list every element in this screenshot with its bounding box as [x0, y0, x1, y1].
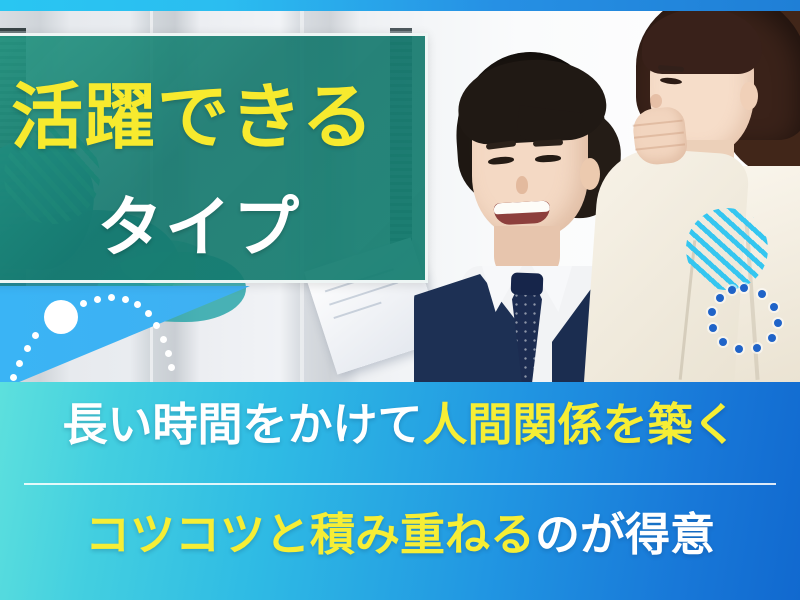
title-main-text: 活躍できる: [11, 82, 375, 154]
tagline-line-2: コツコツと積み重ねるのが得意: [0, 510, 800, 560]
title-sub-text: タイプ: [97, 194, 301, 260]
striped-circle-decoration-right: [686, 208, 768, 290]
white-circle-decoration: [44, 300, 78, 334]
person-woman: [600, 0, 800, 390]
title-box: 活躍できる タイプ: [0, 33, 428, 283]
top-accent-strip: [0, 0, 800, 11]
tagline-line-2-white: のが得意: [535, 509, 715, 560]
bottom-text-panel: 長い時間をかけて人間関係を築く コツコツと積み重ねるのが得意: [0, 382, 800, 600]
recruitment-banner: 活躍できる タイプ 長い時間をかけて人間関係を築く コツコツと積み重ねるのが得意: [0, 0, 800, 600]
tagline-line-1-yellow: 人間関係を築く: [423, 399, 738, 450]
tagline-line-1-white: 長い時間をかけて: [62, 399, 422, 450]
tagline-line-1: 長い時間をかけて人間関係を築く: [0, 400, 800, 450]
tagline-line-2-yellow: コツコツと積み重ねる: [85, 509, 535, 560]
tagline-divider: [24, 483, 776, 485]
